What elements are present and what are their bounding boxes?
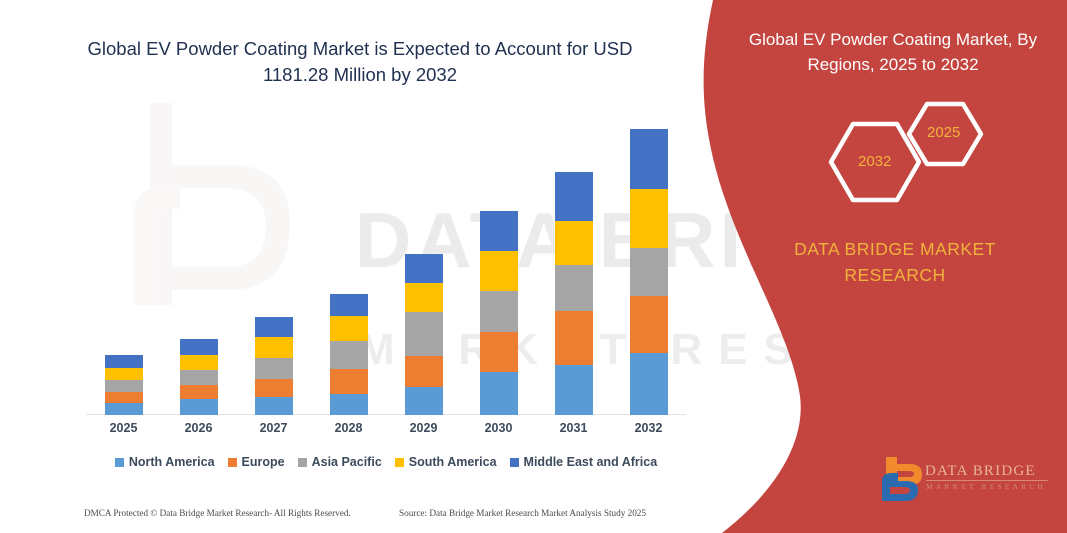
bar-segment[interactable] <box>105 403 143 415</box>
legend-item[interactable]: North America <box>115 455 215 469</box>
bar-segment[interactable] <box>255 317 293 337</box>
bar-segment[interactable] <box>255 358 293 379</box>
legend-label: Europe <box>242 455 285 469</box>
bar-column-2027[interactable] <box>255 317 293 415</box>
bar-column-2030[interactable] <box>480 211 518 415</box>
bar-segment[interactable] <box>630 296 668 353</box>
bar-segment[interactable] <box>555 311 593 365</box>
bar-segment[interactable] <box>255 337 293 358</box>
bar-segment[interactable] <box>405 312 443 356</box>
bar-segment[interactable] <box>105 368 143 380</box>
x-axis-label-2029: 2029 <box>389 421 459 435</box>
panel-title: Global EV Powder Coating Market, By Regi… <box>743 28 1043 77</box>
bar-segment[interactable] <box>180 370 218 385</box>
footer-copyright: DMCA Protected © Data Bridge Market Rese… <box>84 508 351 518</box>
bar-segment[interactable] <box>480 251 518 291</box>
bar-segment[interactable] <box>180 339 218 355</box>
brand-line-1: DATA BRIDGE MARKET <box>745 236 1045 262</box>
bar-segment[interactable] <box>480 332 518 372</box>
legend-label: South America <box>409 455 497 469</box>
bar-segment[interactable] <box>180 385 218 399</box>
legend-item[interactable]: Asia Pacific <box>298 455 382 469</box>
bar-segment[interactable] <box>630 129 668 189</box>
footer-source: Source: Data Bridge Market Research Mark… <box>399 508 646 518</box>
bar-segment[interactable] <box>330 294 368 316</box>
chart-legend: North AmericaEuropeAsia PacificSouth Ame… <box>86 455 686 469</box>
bar-segment[interactable] <box>630 248 668 296</box>
bar-segment[interactable] <box>330 369 368 394</box>
hexagon-2025-label: 2025 <box>927 124 960 141</box>
x-axis-label-2025: 2025 <box>89 421 159 435</box>
bar-segment[interactable] <box>555 365 593 415</box>
x-axis-label-2030: 2030 <box>464 421 534 435</box>
legend-label: Middle East and Africa <box>524 455 658 469</box>
bar-segment[interactable] <box>480 211 518 251</box>
legend-item[interactable]: Europe <box>228 455 285 469</box>
bar-segment[interactable] <box>330 394 368 415</box>
bar-segment[interactable] <box>405 283 443 312</box>
brand-wordmark: DATA BRIDGE MARKET RESEARCH <box>745 236 1045 289</box>
bar-column-2028[interactable] <box>330 294 368 415</box>
stacked-bar-chart <box>86 110 686 415</box>
bar-segment[interactable] <box>330 316 368 341</box>
brand-line-2: RESEARCH <box>745 262 1045 288</box>
logo-subtitle: MARKET RESEARCH <box>926 482 1046 491</box>
bar-segment[interactable] <box>555 172 593 221</box>
legend-swatch-icon <box>228 458 237 467</box>
legend-swatch-icon <box>298 458 307 467</box>
page-title: Global EV Powder Coating Market is Expec… <box>60 36 660 89</box>
logo-title: DATA BRIDGE <box>925 463 1036 480</box>
legend-item[interactable]: Middle East and Africa <box>510 455 658 469</box>
legend-item[interactable]: South America <box>395 455 497 469</box>
infographic-page: DATA BRIDGE MARKET RESEARCH Global EV Po… <box>0 0 1067 533</box>
x-axis-label-2032: 2032 <box>614 421 684 435</box>
bar-segment[interactable] <box>105 392 143 403</box>
footer: DMCA Protected © Data Bridge Market Rese… <box>84 508 684 522</box>
bar-column-2025[interactable] <box>105 355 143 415</box>
right-panel: Global EV Powder Coating Market, By Regi… <box>735 0 1067 533</box>
bar-segment[interactable] <box>105 380 143 392</box>
bar-segment[interactable] <box>405 254 443 283</box>
bar-segment[interactable] <box>330 341 368 369</box>
bar-segment[interactable] <box>630 189 668 248</box>
legend-label: Asia Pacific <box>312 455 382 469</box>
bar-segment[interactable] <box>180 355 218 370</box>
bar-segment[interactable] <box>405 387 443 415</box>
data-bridge-logo[interactable]: DATA BRIDGE MARKET RESEARCH <box>880 455 1065 507</box>
x-axis-label-2027: 2027 <box>239 421 309 435</box>
legend-label: North America <box>129 455 215 469</box>
bar-segment[interactable] <box>255 379 293 397</box>
hexagon-icons <box>805 100 1005 210</box>
hexagon-2032-label: 2032 <box>858 153 891 170</box>
bar-segment[interactable] <box>105 355 143 368</box>
bar-segment[interactable] <box>255 397 293 415</box>
bar-column-2029[interactable] <box>405 254 443 415</box>
x-axis-label-2026: 2026 <box>164 421 234 435</box>
logo-divider <box>926 480 1048 481</box>
bar-segment[interactable] <box>405 356 443 387</box>
bar-column-2031[interactable] <box>555 172 593 415</box>
chart-x-axis-labels: 20252026202720282029203020312032 <box>86 421 686 443</box>
logo-mark-icon <box>880 455 924 503</box>
x-axis-label-2028: 2028 <box>314 421 384 435</box>
bar-segment[interactable] <box>480 291 518 332</box>
bar-segment[interactable] <box>630 353 668 415</box>
bar-segment[interactable] <box>555 265 593 311</box>
legend-swatch-icon <box>395 458 404 467</box>
bar-segment[interactable] <box>480 372 518 415</box>
bar-column-2032[interactable] <box>630 129 668 415</box>
hexagon-group: 2032 2025 <box>805 100 1005 210</box>
legend-swatch-icon <box>115 458 124 467</box>
x-axis-label-2031: 2031 <box>539 421 609 435</box>
bar-segment[interactable] <box>555 221 593 265</box>
bar-segment[interactable] <box>180 399 218 415</box>
bar-column-2026[interactable] <box>180 339 218 415</box>
legend-swatch-icon <box>510 458 519 467</box>
